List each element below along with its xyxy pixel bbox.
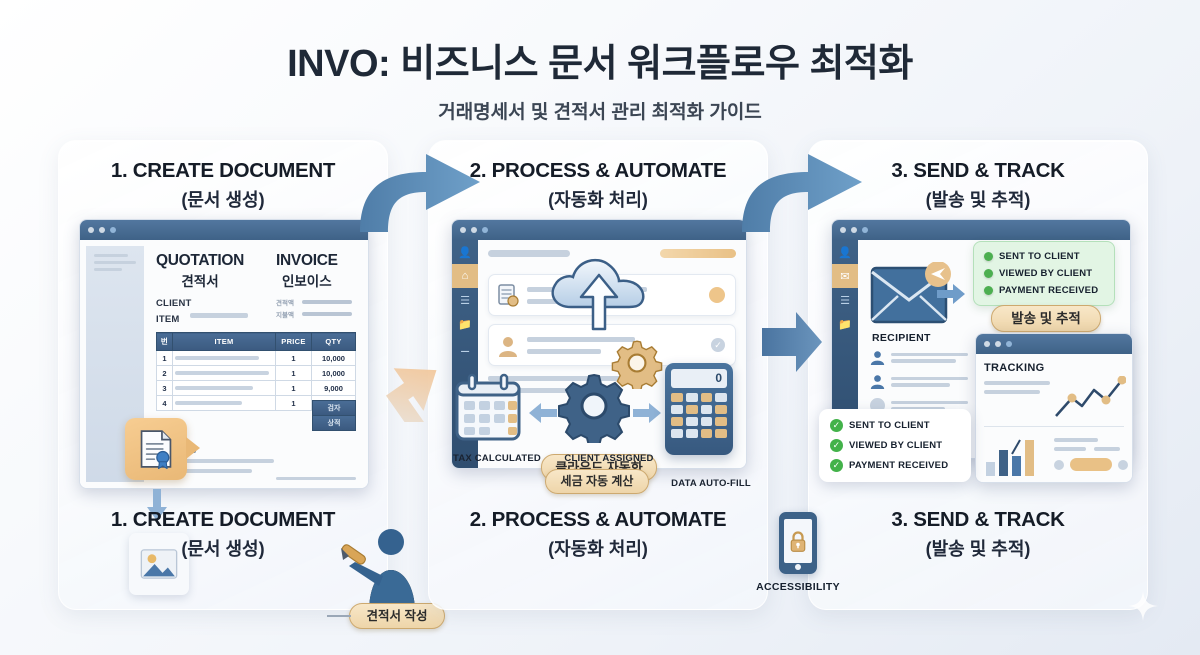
row-qty: 10,000 [312,366,356,381]
table-row[interactable]: 1 1 10,000 [157,351,356,366]
row-no: 2 [157,366,173,381]
quotation-title-en: QUOTATION [156,252,244,270]
panel-process-automate: 2. PROCESS & AUTOMATE (자동화 처리) 👤 ⌂ ☰ 📁 ⚊ [428,140,768,610]
row-item [173,381,276,396]
recipient-list[interactable]: ❯ ❯ ❯ [870,350,982,413]
row-qty: 9,000 [312,381,356,396]
table-row[interactable]: 2 1 10,000 [157,366,356,381]
status-item: SENT TO CLIENT [984,251,1104,262]
panel-create-document: 1. CREATE DOCUMENT (문서 생성) QUOTATION 견적서 [58,140,388,610]
panel3-footer-ko: (발송 및 추적) [809,535,1147,561]
panel2-footer: 2. PROCESS & AUTOMATE (자동화 처리) [429,508,767,561]
quotation-title-ko: 견적서 [156,270,244,290]
status-box-green: SENT TO CLIENT VIEWED BY CLIENT PAYMENT … [973,241,1115,306]
cloud-upload-icon [541,237,661,333]
panel1-footer-ko: (문서 생성) [59,535,387,561]
check-circle-icon: ✓ [711,338,725,352]
sidebar-folder-icon[interactable]: 📁 [832,312,858,336]
sidebar-mail-icon[interactable]: ✉ [832,264,858,288]
window-dot-maximize-icon [482,227,488,233]
chart-line-icon [1054,376,1126,420]
window-dot-minimize-icon [995,341,1001,347]
panel1-header-en: 1. CREATE DOCUMENT [59,159,387,183]
bar-chart-icon [984,434,1046,476]
sidebar-person-icon[interactable]: 👤 [832,240,858,264]
row-item [173,351,276,366]
sidebar-list-icon[interactable]: ☰ [832,288,858,312]
window-titlebar [832,220,1130,240]
highlight-bar [660,249,736,258]
panel3-header-en: 3. SEND & TRACK [809,159,1147,183]
person-icon [497,335,519,357]
window-dot-maximize-icon [1006,341,1012,347]
panel1-footer: 1. CREATE DOCUMENT (문서 생성) [59,508,387,561]
table-footer-row: 검자 [312,400,356,416]
row-item [173,396,276,411]
pointer-triangle-icon [186,437,200,459]
panel2-footer-en: 2. PROCESS & AUTOMATE [429,508,767,532]
window-dot-maximize-icon [862,227,868,233]
status-dot-icon [984,269,993,278]
check-circle-icon: ✓ [830,419,843,432]
window-dot-minimize-icon [471,227,477,233]
status-label: VIEWED BY CLIENT [849,440,942,451]
col-no: 번 [157,333,173,351]
status-card-white: ✓ SENT TO CLIENT ✓ VIEWED BY CLIENT ✓ PA… [819,409,971,482]
sidebar-list-icon[interactable]: ☰ [452,288,478,312]
panel3-footer-en: 3. SEND & TRACK [809,508,1147,532]
row-price: 1 [276,351,312,366]
person-icon [870,350,885,365]
tracking-window[interactable]: TRACKING [975,333,1133,483]
send-track-badge: 발송 및 추적 [991,305,1101,332]
panel2-header-en: 2. PROCESS & AUTOMATE [429,159,767,183]
calendar-icon [451,373,525,447]
panel3-footer: 3. SEND & TRACK (발송 및 추적) [809,508,1147,561]
right-arrow-icon [633,403,661,423]
row-price: 1 [276,396,312,411]
quotation-window[interactable]: QUOTATION 견적서 INVOICE 인보이스 CLIENT ITEM 견… [79,219,369,489]
status-item: VIEWED BY CLIENT [984,268,1104,279]
quotation-write-badge: 견적서 작성 [349,603,445,629]
window-dot-maximize-icon [110,227,116,233]
row-no: 3 [157,381,173,396]
caption-data-auto-fill: DATA AUTO-FILL [655,478,767,489]
window-dot-close-icon [840,227,846,233]
tax-auto-calc-badge: 세금 자동 계산 [545,469,649,494]
panel2-header-ko: (자동화 처리) [429,186,767,212]
list-item[interactable]: ❯ [870,374,982,389]
status-item: ✓ SENT TO CLIENT [830,419,960,432]
row-item [173,366,276,381]
status-dot-icon [709,287,725,303]
invoice-field-2-label: 지불액 [276,310,294,322]
document-check-icon [497,284,519,308]
certificate-document-icon [125,418,187,480]
sidebar-person-icon[interactable]: 👤 [452,240,478,264]
page-subtitle: 거래명세서 및 견적서 관리 최적화 가이드 [0,97,1200,124]
panel1-footer-en: 1. CREATE DOCUMENT [59,508,387,532]
status-item: PAYMENT RECEIVED [984,285,1104,296]
calculator-display: 0 [671,369,727,388]
status-label: SENT TO CLIENT [849,420,930,431]
title-block: INVO: 비즈니스 문서 워크플로우 최적화 거래명세서 및 견적서 관리 최… [0,32,1200,124]
panel3-header: 3. SEND & TRACK (발송 및 추적) [809,159,1147,212]
status-dot-icon [984,286,993,295]
item-label: ITEM [156,314,192,325]
check-circle-icon: ✓ [830,439,843,452]
col-item: ITEM [173,333,276,351]
phone-home-button[interactable] [795,564,801,570]
panel1-header: 1. CREATE DOCUMENT (문서 생성) [59,159,387,212]
status-item: ✓ VIEWED BY CLIENT [830,439,960,452]
divider [984,426,1124,427]
phone-screen [784,519,812,563]
calculator-keypad[interactable] [671,393,727,438]
panel2-header: 2. PROCESS & AUTOMATE (자동화 처리) [429,159,767,212]
table-row[interactable]: 3 1 9,000 [157,381,356,396]
window-titlebar [80,220,368,240]
accessibility-block: ACCESSIBILITY [748,512,848,593]
invoice-title-ko: 인보이스 [276,270,338,290]
invoice-title-en: INVOICE [276,252,338,270]
caption-tax-calculated: TAX CALCULATED [437,453,557,464]
toggle-switch[interactable] [1070,458,1112,471]
recipient-label: RECIPIENT [872,332,931,344]
right-arrow-icon [937,284,965,304]
left-arrow-icon [529,403,557,423]
quotation-window-body: QUOTATION 견적서 INVOICE 인보이스 CLIENT ITEM 견… [80,240,368,488]
tracking-window-body: TRACKING [976,354,1132,482]
badge-connector-line [327,615,351,617]
status-item: ✓ PAYMENT RECEIVED [830,459,960,472]
items-table-header-row: 번 ITEM PRICE QTY [157,333,356,351]
panel3-header-ko: (발송 및 추적) [809,186,1147,212]
toggle-dot-icon[interactable] [1118,460,1128,470]
toggle-dot-icon[interactable] [1054,460,1064,470]
table-footer-row: 상적 [312,416,356,431]
panel2-footer-ko: (자동화 처리) [429,535,767,561]
sidebar-lines-icon[interactable]: ⚊ [452,336,478,360]
gear-icon [611,337,663,389]
status-label: VIEWED BY CLIENT [999,268,1092,279]
row-no: 1 [157,351,173,366]
window-dot-minimize-icon [99,227,105,233]
window-dot-close-icon [460,227,466,233]
infographic-canvas: INVO: 비즈니스 문서 워크플로우 최적화 거래명세서 및 견적서 관리 최… [0,0,1200,655]
status-label: PAYMENT RECEIVED [999,285,1098,296]
calculator-icon: 0 [665,363,733,455]
lock-icon [789,531,807,552]
list-item[interactable]: ❯ [870,350,982,365]
accessibility-label: ACCESSIBILITY [748,581,848,593]
row-price: 1 [276,381,312,396]
row-qty: 10,000 [312,351,356,366]
caption-client-assigned: CLIENT ASSIGNED [547,453,671,464]
status-dot-icon [984,252,993,261]
col-qty: QTY [312,333,356,351]
window-dot-close-icon [88,227,94,233]
sidebar-folder-icon[interactable]: 📁 [452,312,478,336]
window-dot-close-icon [984,341,990,347]
sparkle-icon [1128,591,1158,621]
col-price: PRICE [276,333,312,351]
invoice-field-1-label: 견적액 [276,298,294,310]
row-no: 4 [157,396,173,411]
client-label: CLIENT [156,298,192,309]
page-title: INVO: 비즈니스 문서 워크플로우 최적화 [0,32,1200,87]
tracking-title: TRACKING [984,362,1124,374]
person-icon [870,374,885,389]
sidebar-home-icon[interactable]: ⌂ [452,264,478,288]
panel-send-track: 3. SEND & TRACK (발송 및 추적) 👤 ✉ ☰ 📁 [808,140,1148,610]
window-dot-minimize-icon [851,227,857,233]
panel1-header-ko: (문서 생성) [59,186,387,212]
check-circle-icon: ✓ [830,459,843,472]
status-label: SENT TO CLIENT [999,251,1080,262]
row-price: 1 [276,366,312,381]
phone-lock-icon [779,512,817,574]
status-label: PAYMENT RECEIVED [849,460,948,471]
window-titlebar [976,334,1132,354]
